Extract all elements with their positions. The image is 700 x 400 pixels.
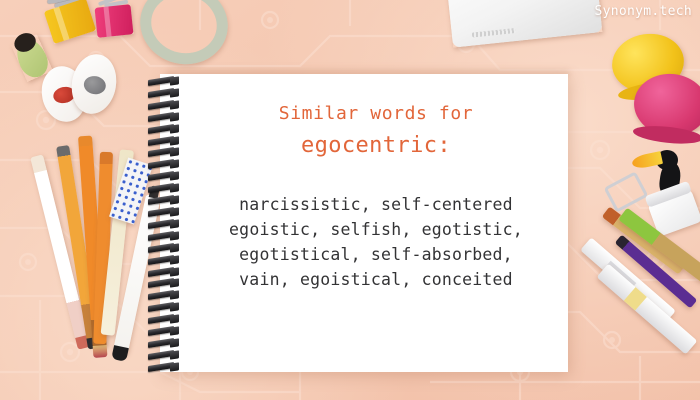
card-title: Similar words for [279,100,473,127]
binder-clip-pink [95,4,134,38]
spiral-ring [148,221,182,227]
synonym-line: vain, egoistical, conceited [229,267,523,292]
spiral-ring [148,340,182,346]
spiral-ring [148,364,182,370]
spiral-ring [148,245,182,251]
spiral-ring [148,78,182,84]
spiral-ring [148,138,182,144]
spiral-ring [148,161,182,167]
eraser-center-grey [82,74,107,96]
spiral-ring [148,90,182,96]
spiral-ring [148,197,182,203]
spiral-ring [148,304,182,310]
synonym-line: egotistical, self-absorbed, [229,242,523,267]
synonym-line: egoistic, selfish, egotistic, [229,217,523,242]
spiral-ring [148,352,182,358]
spiral-ring [148,185,182,191]
spiral-ring [148,280,182,286]
spiral-ring [148,269,182,275]
spiral-ring [148,126,182,132]
spiral-ring [148,149,182,155]
spiral-ring [148,102,182,108]
spiral-ring [148,114,182,120]
spiral-ring [148,328,182,334]
spiral-ring [148,209,182,215]
clip-body [95,4,134,38]
spiral-ring [148,257,182,263]
synonym-line: narcissistic, self-centered [229,192,523,217]
card-content: Similar words for egocentric: narcissist… [186,74,566,372]
spiral-ring [148,233,182,239]
spiral-binding [148,78,184,370]
spiral-ring [148,173,182,179]
watermark: Synonym.tech [594,4,692,19]
screenshot-canvas: Similar words for egocentric: narcissist… [0,0,700,400]
card-headword: egocentric: [301,133,451,158]
spiral-ring [148,292,182,298]
synonym-list: narcissistic, self-centered egoistic, se… [229,192,523,292]
toucan-beak [631,151,663,170]
pencil-eraser [93,345,108,358]
spiral-ring [148,316,182,322]
